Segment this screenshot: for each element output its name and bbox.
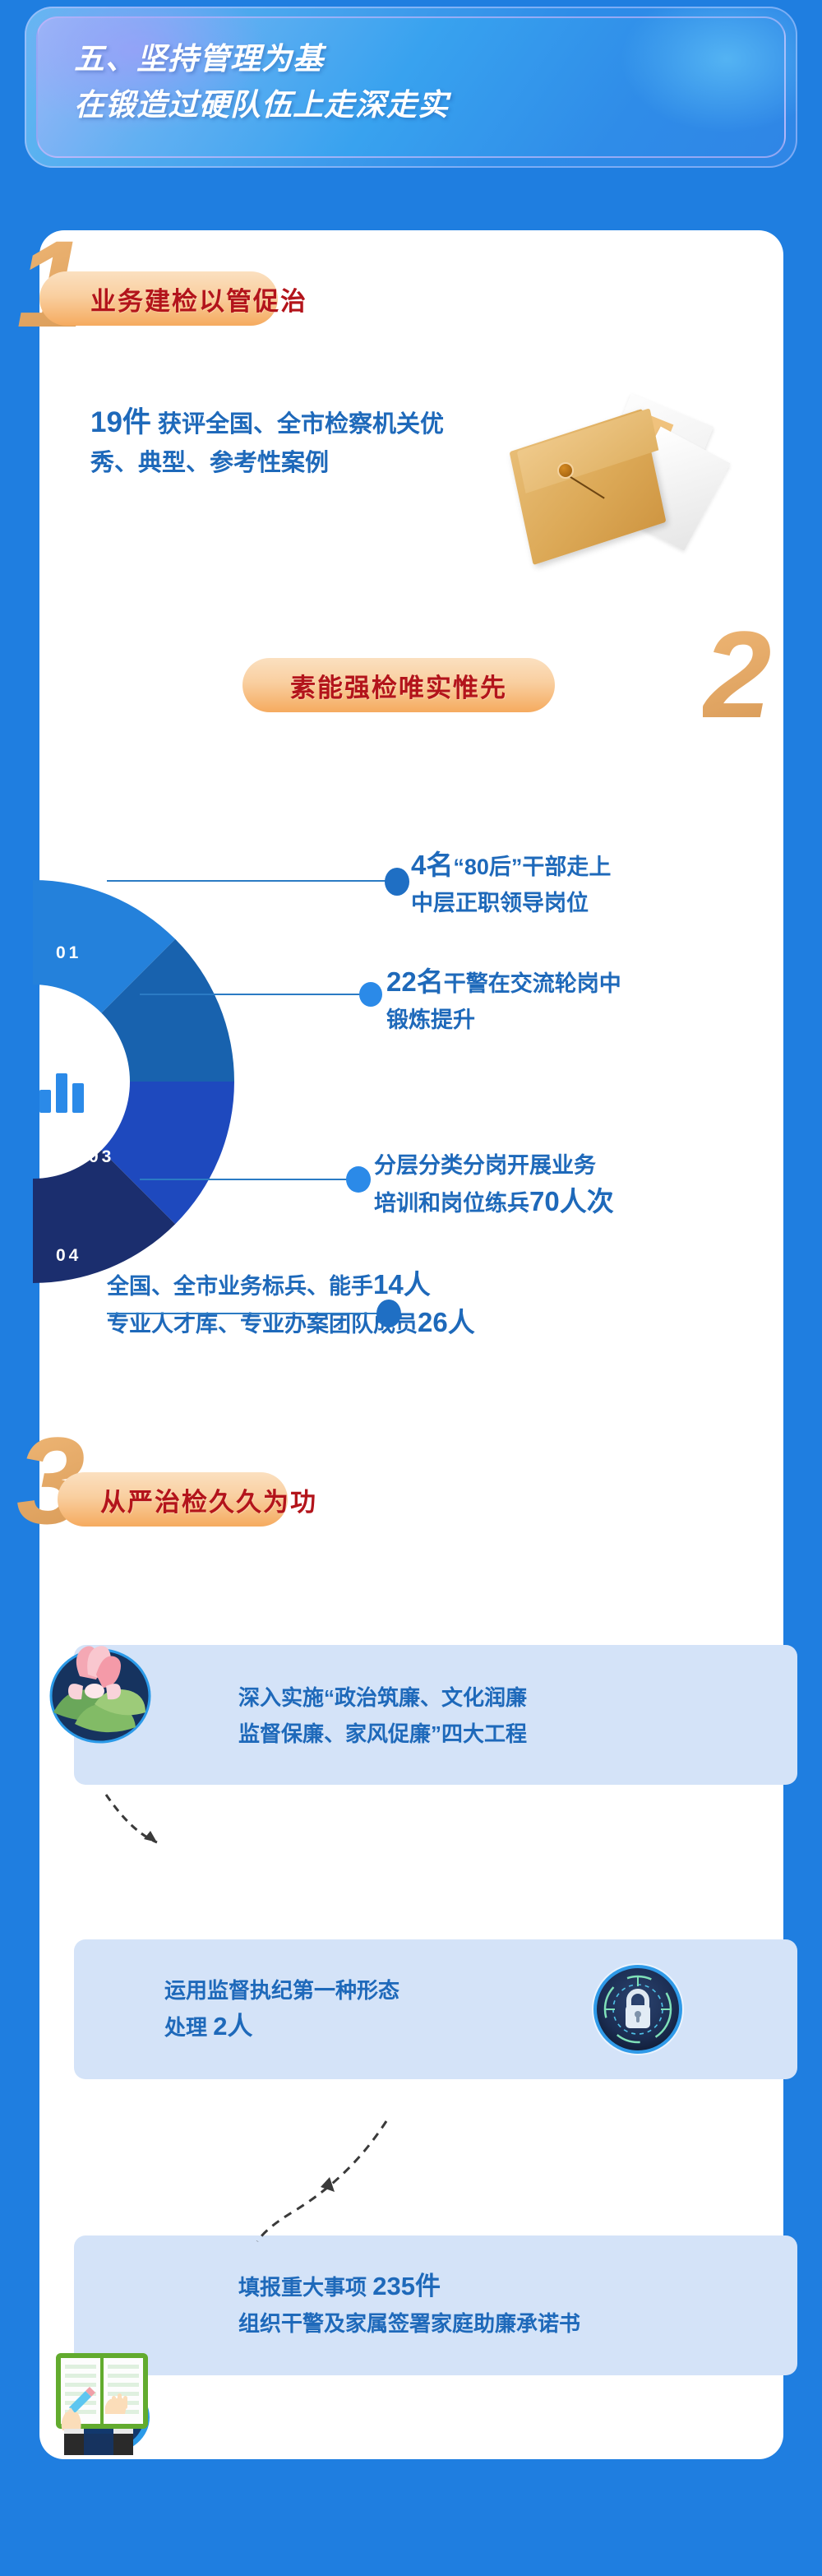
page-title: 五、坚持管理为基 在锻造过硬队伍上走深走实 [74, 36, 764, 128]
info-card-2: 运用监督执纪第一种形态 处理 2人 [74, 1939, 797, 2079]
info-card-2-text: 运用监督执纪第一种形态 处理 2人 [164, 1972, 399, 2046]
connector-dot-4 [376, 1300, 401, 1327]
connector-dot-1 [385, 868, 409, 896]
info-card-2-strong: 2人 [213, 2012, 252, 2041]
info-card-3: 填报重大事项 235件 组织干警及家属签署家庭助廉承诺书 [74, 2235, 797, 2375]
item-4-line-1: 全国、全市业务标兵、能手 [107, 1274, 373, 1299]
donut-label-03: 03 [89, 1147, 114, 1167]
dashed-arrow-2 [210, 2118, 399, 2249]
envelope-clasp [557, 462, 574, 479]
envelope-icon [510, 411, 715, 568]
donut-label-01: 01 [56, 943, 81, 963]
info-card-1-text: 深入实施“政治筑廉、文化润廉 监督保廉、家风促廉”四大工程 [238, 1679, 527, 1752]
item-4-strong-1: 14人 [373, 1269, 431, 1300]
section-1-body: 19件 获评全国、全市检察机关优秀、典型、参考性案例 [90, 403, 460, 483]
item-3-line-1: 分层分类分岗开展业务 [374, 1147, 785, 1184]
header-banner-inner: 五、坚持管理为基 在锻造过硬队伍上走深走实 [36, 16, 786, 158]
dashed-arrow-1 [103, 1791, 169, 1856]
info-card-3-strong: 235件 [372, 2272, 441, 2300]
bar-chart-bar-1 [39, 1090, 51, 1113]
connector-dot-3 [346, 1166, 371, 1193]
item-2-line-2: 锻炼提升 [386, 1002, 797, 1038]
section-pill-label-1: 业务建检以管促治 [90, 280, 307, 317]
item-1-line-1: “80后”干部走上 [453, 855, 611, 879]
item-3-line-2: 培训和岗位练兵 [374, 1191, 529, 1216]
info-card-3-line-1: 填报重大事项 [238, 2275, 372, 2300]
connector-line-3 [140, 1179, 355, 1180]
donut-label-02: 02 [89, 1045, 114, 1065]
section-pill-1: 业务建检以管促治 [39, 271, 278, 326]
donut-label-04: 04 [56, 1246, 81, 1266]
item-2-strong: 22名 [386, 966, 444, 997]
item-4-strong-2: 26人 [418, 1307, 475, 1337]
info-card-2-line-2: 处理 [164, 2015, 213, 2040]
notebook-pen-icon [49, 2348, 164, 2455]
connector-dot-2 [359, 982, 382, 1007]
section-pill-2: 素能强检唯实惟先 [242, 658, 555, 712]
info-card-1: 深入实施“政治筑廉、文化润廉 监督保廉、家风促廉”四大工程 [74, 1645, 797, 1785]
item-2-line-1: 干警在交流轮岗中 [444, 971, 621, 996]
connector-line-1 [107, 880, 395, 882]
bar-chart-bar-3 [72, 1083, 84, 1113]
bar-chart-icon [39, 1070, 89, 1113]
section-1-highlight: 19件 [90, 406, 151, 438]
lock-shield-icon [590, 1962, 686, 2057]
item-1-line-2: 中层正职领导岗位 [411, 885, 822, 921]
bar-chart-bar-2 [56, 1073, 67, 1113]
section-pill-label-2: 素能强检唯实惟先 [290, 667, 507, 704]
section-2-item-3: 分层分类分岗开展业务 培训和岗位练兵70人次 [374, 1147, 785, 1221]
page-title-line-2: 在锻造过硬队伍上走深走实 [74, 82, 764, 128]
connector-line-2 [140, 994, 368, 995]
info-card-3-text: 填报重大事项 235件 组织干警及家属签署家庭助廉承诺书 [238, 2268, 580, 2342]
section-2-item-4: 全国、全市业务标兵、能手14人 专业人才库、专业办案团队成员26人 [107, 1267, 764, 1342]
item-3-strong: 70人次 [529, 1186, 614, 1216]
section-2-item-1: 4名“80后”干部走上 中层正职领导岗位 [411, 847, 822, 921]
section-pill-3: 从严治检久久为功 [58, 1472, 288, 1527]
section-number-2: 2 [703, 613, 771, 736]
info-card-1-line-2: 监督保廉、家风促廉”四大工程 [238, 1716, 527, 1752]
item-4-line-2: 专业人才库、专业办案团队成员 [107, 1312, 418, 1337]
section-2-item-2: 22名干警在交流轮岗中 锻炼提升 [386, 964, 797, 1038]
page-title-line-1: 五、坚持管理为基 [74, 36, 764, 82]
header-banner: 五、坚持管理为基 在锻造过硬队伍上走深走实 [25, 7, 797, 168]
section-pill-label-3: 从严治检久久为功 [100, 1481, 317, 1518]
donut-chart: 01 02 03 04 [16, 843, 238, 1320]
lotus-icon [45, 1642, 156, 1744]
info-card-2-line-1: 运用监督执纪第一种形态 [164, 1972, 399, 2008]
item-1-strong: 4名 [411, 850, 453, 880]
connector-line-4 [107, 1313, 385, 1314]
info-card-3-line-2: 组织干警及家属签署家庭助廉承诺书 [238, 2305, 580, 2342]
info-card-1-line-1: 深入实施“政治筑廉、文化润廉 [238, 1679, 527, 1716]
infographic-page: 五、坚持管理为基 在锻造过硬队伍上走深走实 1 业务建检以管促治 19件 获评全… [0, 0, 822, 2576]
